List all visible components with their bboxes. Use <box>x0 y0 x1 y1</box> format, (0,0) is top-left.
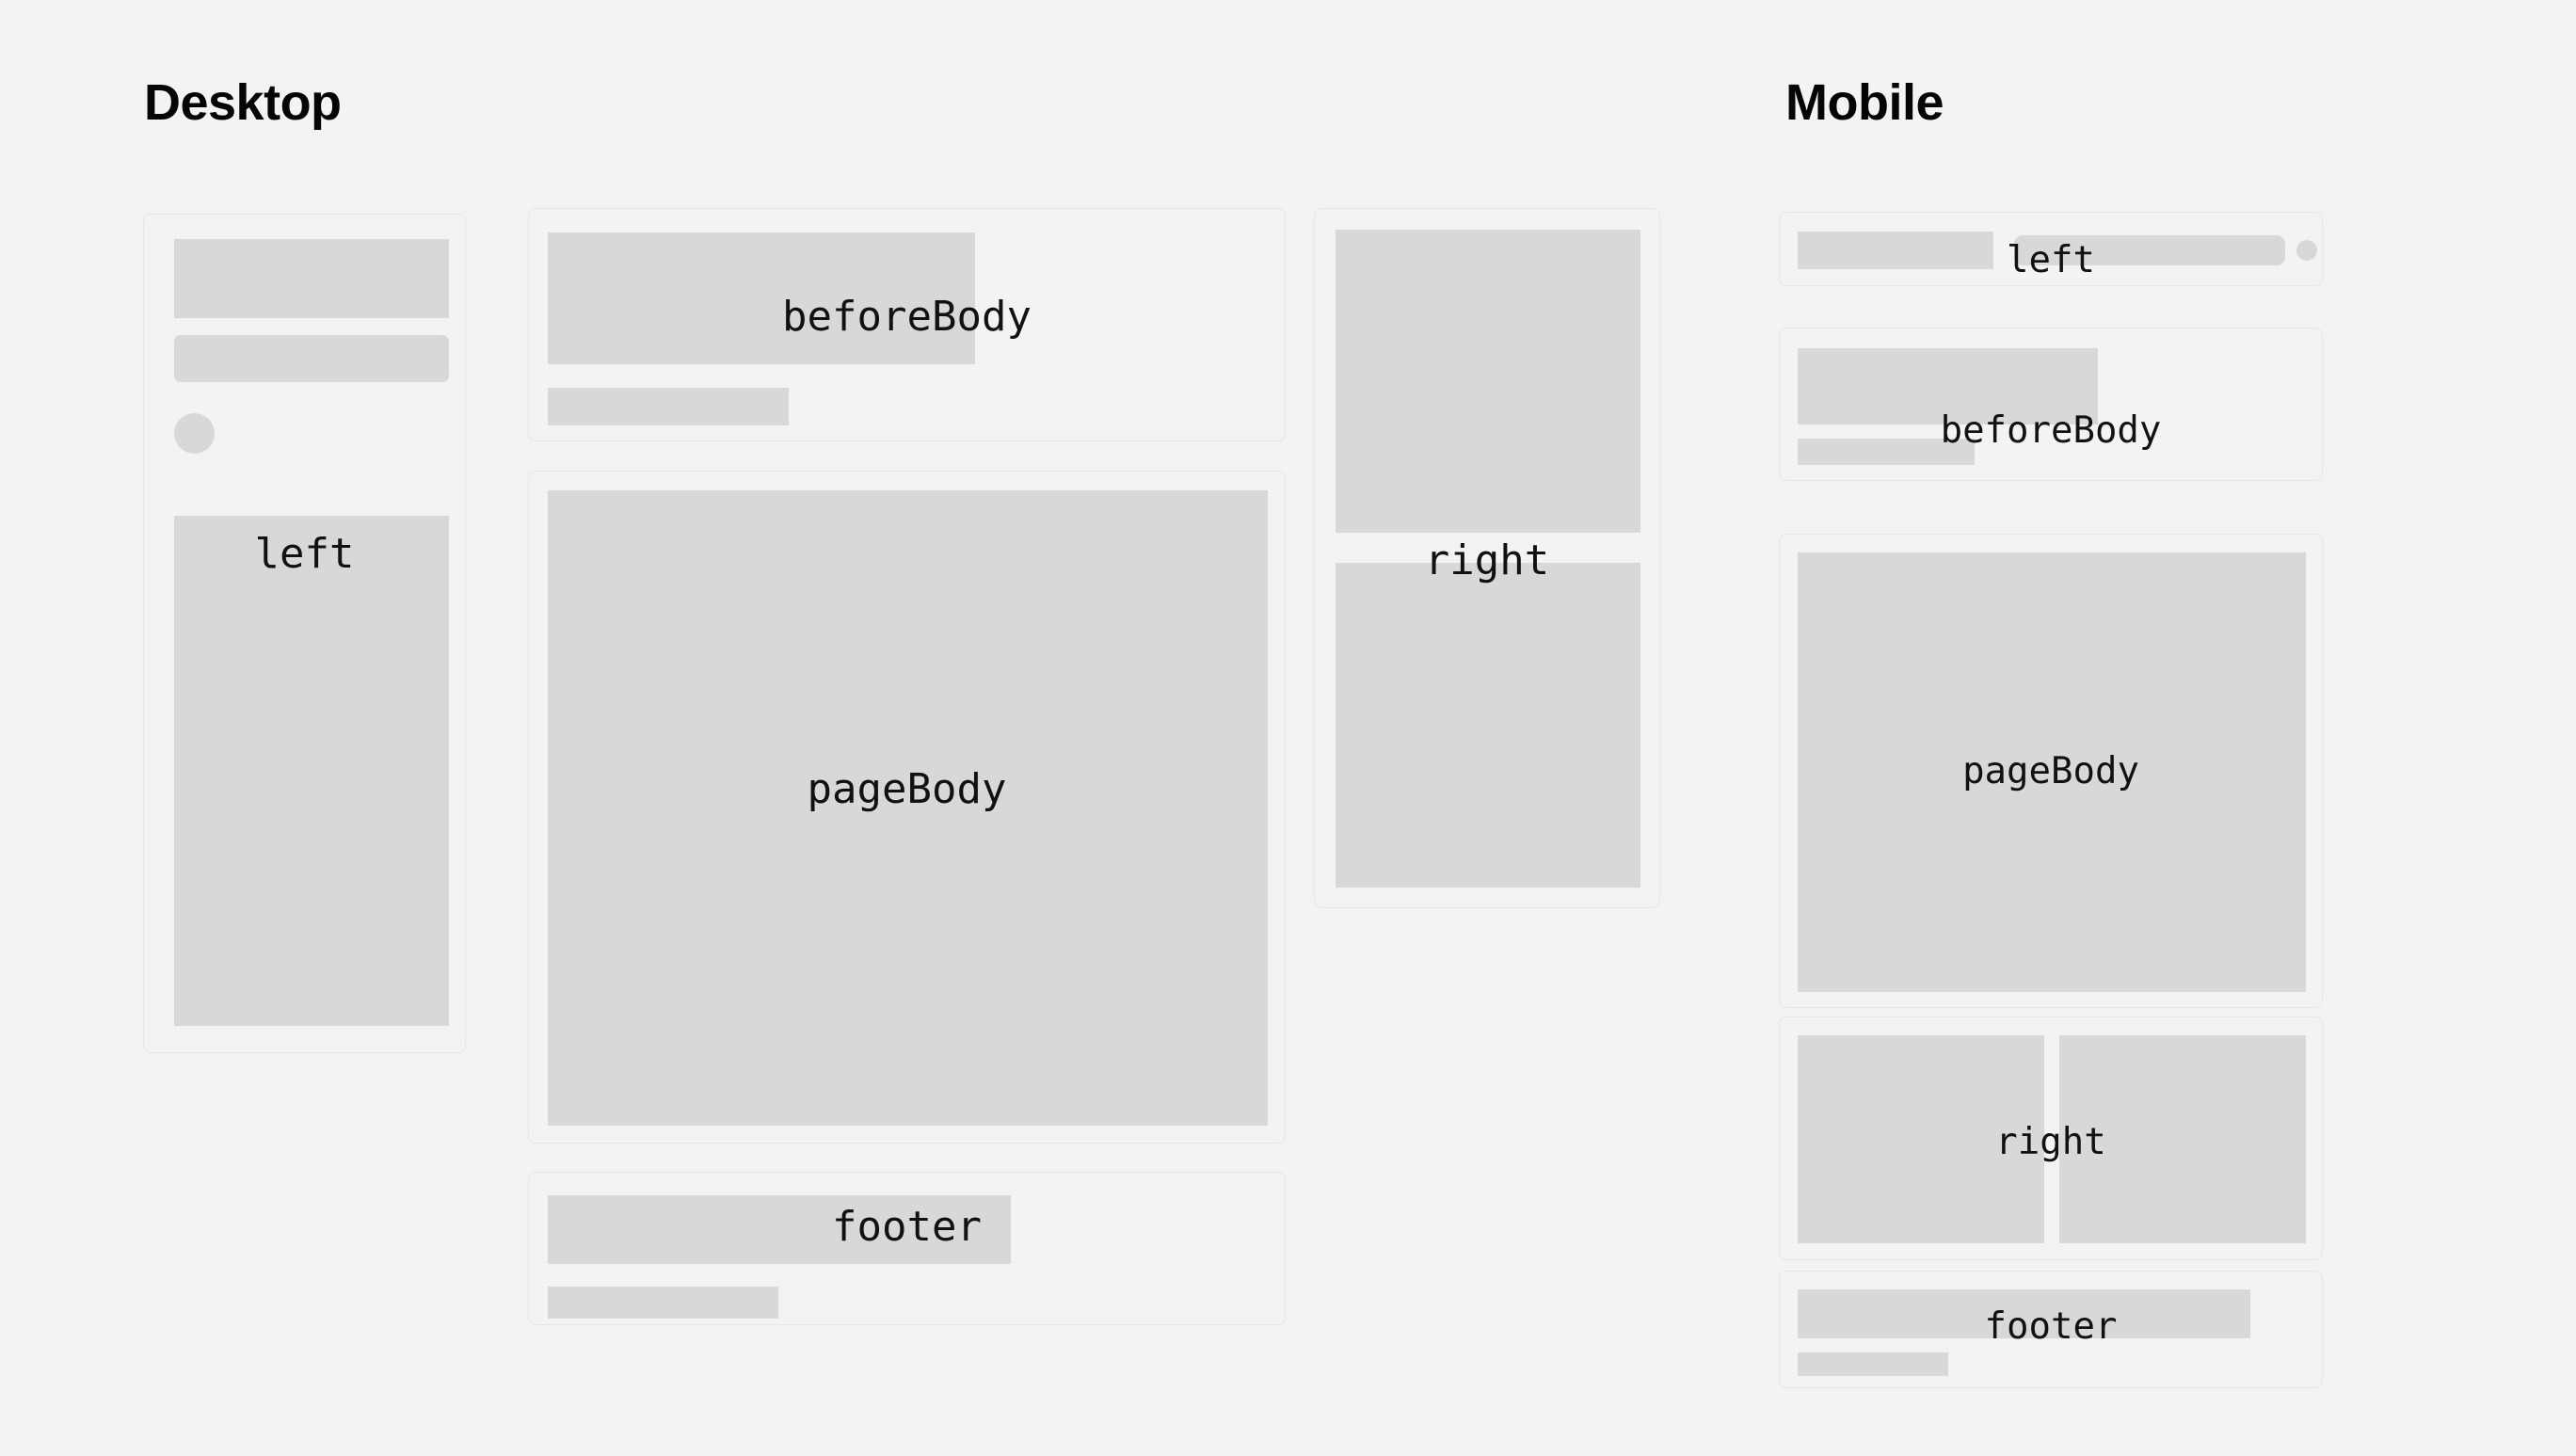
placeholder-avatar-dot <box>2296 240 2317 261</box>
placeholder-footer-block <box>548 1195 1011 1264</box>
desktop-slot-pagebody[interactable] <box>528 471 1286 1144</box>
placeholder-subheader-bar <box>174 335 449 382</box>
mobile-slot-left[interactable] <box>1779 212 2323 286</box>
placeholder-banner-block <box>1798 348 2098 424</box>
placeholder-banner-block <box>548 232 975 364</box>
placeholder-aside-block-right <box>2059 1035 2306 1243</box>
placeholder-content-block <box>1798 552 2306 992</box>
mobile-slot-pagebody[interactable] <box>1779 534 2323 1008</box>
desktop-slot-footer[interactable] <box>528 1172 1286 1325</box>
desktop-slot-beforebody[interactable] <box>528 208 1286 441</box>
page-title-mobile: Mobile <box>1785 77 1944 128</box>
wireframe-stage: Desktop left beforeBody pageBody footer … <box>0 0 2576 1456</box>
placeholder-header-block <box>1798 232 1993 269</box>
placeholder-caption-bar <box>1798 439 1975 465</box>
placeholder-header-block <box>174 239 449 318</box>
placeholder-search-bar <box>2014 235 2285 265</box>
placeholder-avatar-dot <box>174 413 215 454</box>
placeholder-aside-block-bottom <box>1336 563 1640 888</box>
mobile-slot-beforebody[interactable] <box>1779 328 2323 481</box>
placeholder-caption-bar <box>548 388 789 425</box>
placeholder-aside-block-left <box>1798 1035 2044 1243</box>
desktop-slot-left[interactable] <box>143 214 466 1053</box>
placeholder-footer-bar <box>1798 1352 1948 1376</box>
desktop-slot-right[interactable] <box>1314 208 1660 908</box>
placeholder-content-block <box>548 490 1268 1126</box>
placeholder-footer-block <box>1798 1289 2250 1338</box>
placeholder-footer-bar <box>548 1287 778 1319</box>
mobile-slot-footer[interactable] <box>1779 1271 2323 1388</box>
placeholder-aside-block-top <box>1336 230 1640 533</box>
placeholder-nav-block <box>174 516 449 1026</box>
page-title-desktop: Desktop <box>144 77 342 128</box>
mobile-slot-right[interactable] <box>1779 1016 2323 1260</box>
